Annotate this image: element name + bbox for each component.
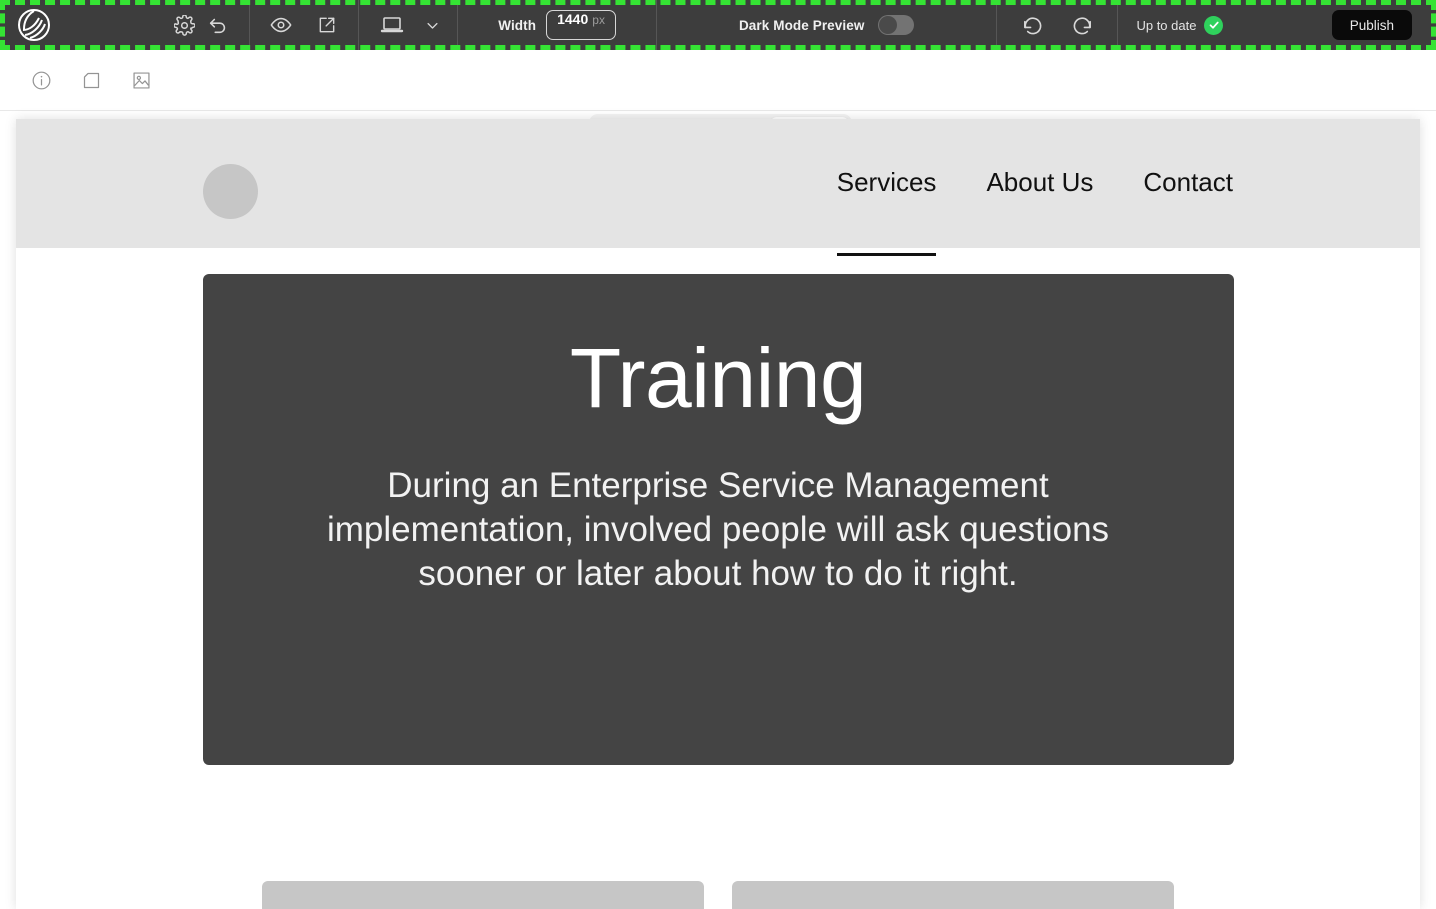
eye-icon[interactable] [264,8,298,42]
hero-subtitle: During an Enterprise Service Management … [323,464,1113,596]
site-header: Services About Us Contact [16,119,1420,248]
publish-button[interactable]: Publish [1332,10,1412,40]
content-placeholders [16,881,1420,909]
site-logo-placeholder[interactable] [203,164,258,219]
sub-toolbar: Meta Data Content Design [0,50,1436,111]
redo-icon[interactable] [1065,8,1099,42]
preview-canvas[interactable]: Services About Us Contact Training Durin… [16,119,1420,909]
info-circle-icon[interactable] [26,65,56,95]
site-nav: Services About Us Contact [837,119,1233,248]
chevron-down-icon[interactable] [423,8,441,42]
content-placeholder-1[interactable] [262,881,704,909]
width-label: Width [498,18,536,33]
dark-mode-label: Dark Mode Preview [739,18,865,33]
hero-title: Training [570,336,866,420]
check-circle-icon [1204,16,1223,35]
gear-icon[interactable] [167,8,201,42]
hero-card[interactable]: Training During an Enterprise Service Ma… [203,274,1234,765]
width-value: 1440 [557,11,588,27]
content-placeholder-2[interactable] [732,881,1174,909]
undo-icon[interactable] [1015,8,1049,42]
width-unit: px [592,13,605,27]
nav-link-services[interactable]: Services [837,167,937,201]
width-input[interactable]: 1440 px [546,10,616,40]
nav-link-contact[interactable]: Contact [1143,167,1233,201]
sync-status: Up to date [1136,16,1223,35]
external-link-icon[interactable] [310,8,344,42]
dark-mode-toggle[interactable] [878,15,914,35]
top-toolbar: Width 1440 px Dark Mode Preview [0,0,1436,50]
app-logo[interactable] [17,8,51,42]
laptop-icon[interactable] [375,8,409,42]
undo-arrow-icon[interactable] [201,8,235,42]
image-icon[interactable] [126,65,156,95]
toggle-knob [879,16,897,34]
nav-link-about-us[interactable]: About Us [986,167,1093,201]
sync-status-label: Up to date [1136,18,1196,33]
page-icon[interactable] [76,65,106,95]
